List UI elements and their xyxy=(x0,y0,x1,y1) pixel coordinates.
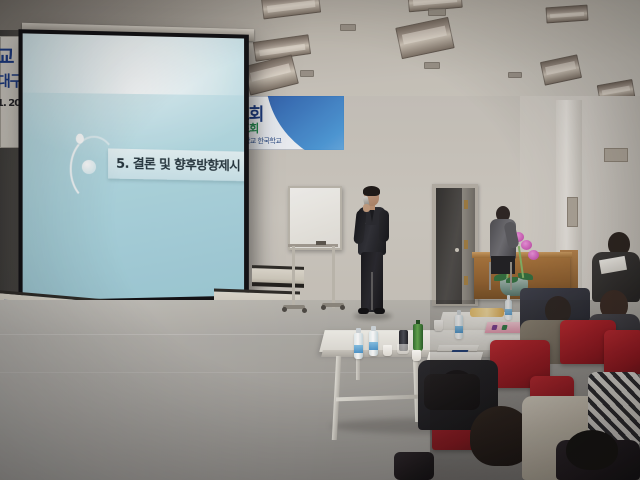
vignette xyxy=(0,0,640,480)
conference-hall-photo: 교 대 대구 · 1. 20(금) 1 표회 표회 대학교 한국학교 5. 결론… xyxy=(0,0,640,480)
